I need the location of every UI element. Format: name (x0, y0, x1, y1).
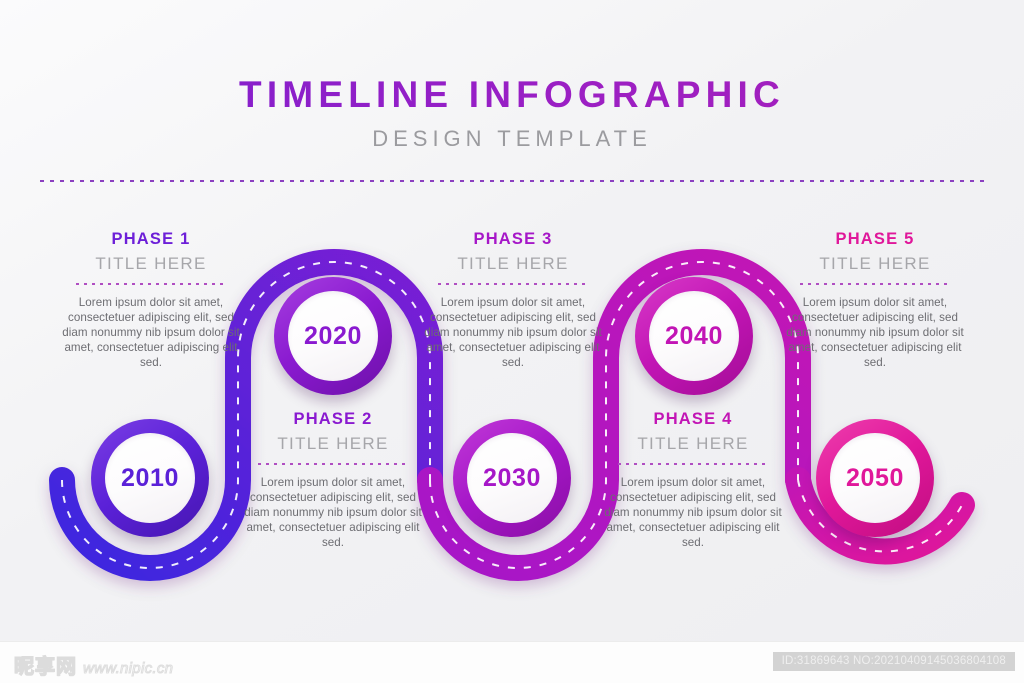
phase-divider-5 (800, 283, 950, 285)
page-subtitle: DESIGN TEMPLATE (0, 126, 1024, 152)
watermark-logo-text: 昵享网 (14, 650, 77, 679)
phase-title-3: PHASE 3 (424, 230, 602, 249)
phase-body-1: Lorem ipsum dolor sit amet, consectetuer… (62, 295, 240, 371)
phase-block-5[interactable]: PHASE 5 TITLE HERE Lorem ipsum dolor sit… (786, 230, 964, 371)
phase-body-4: Lorem ipsum dolor sit amet, consectetuer… (604, 475, 782, 551)
watermark-url-text: www.nipic.cn (83, 660, 173, 677)
year-disc-2030: 2030 (467, 433, 557, 523)
year-marker-2050[interactable]: 2050 (816, 419, 934, 537)
year-disc-2010: 2010 (105, 433, 195, 523)
phase-body-3: Lorem ipsum dolor sit amet, consectetuer… (424, 295, 602, 371)
phase-block-4[interactable]: PHASE 4 TITLE HERE Lorem ipsum dolor sit… (604, 410, 782, 551)
phase-divider-2 (258, 463, 408, 465)
phase-title-5: PHASE 5 (786, 230, 964, 249)
phase-block-1[interactable]: PHASE 1 TITLE HERE Lorem ipsum dolor sit… (62, 230, 240, 371)
footer-bar: 昵享网 www.nipic.cn ID:31869643 NO:20210409… (0, 641, 1024, 683)
year-disc-2050: 2050 (830, 433, 920, 523)
year-disc-2040: 2040 (649, 291, 739, 381)
phase-subtitle-3: TITLE HERE (424, 254, 602, 274)
year-label-2020: 2020 (304, 322, 362, 351)
phase-divider-4 (618, 463, 768, 465)
watermark: 昵享网 www.nipic.cn (14, 650, 173, 679)
year-marker-2020[interactable]: 2020 (274, 277, 392, 395)
year-marker-2030[interactable]: 2030 (453, 419, 571, 537)
year-label-2010: 2010 (121, 464, 179, 493)
phase-title-4: PHASE 4 (604, 410, 782, 429)
phase-subtitle-1: TITLE HERE (62, 254, 240, 274)
phase-subtitle-4: TITLE HERE (604, 434, 782, 454)
phase-subtitle-2: TITLE HERE (244, 434, 422, 454)
phase-body-2: Lorem ipsum dolor sit amet, consectetuer… (244, 475, 422, 551)
phase-body-5: Lorem ipsum dolor sit amet, consectetuer… (786, 295, 964, 371)
phase-block-2[interactable]: PHASE 2 TITLE HERE Lorem ipsum dolor sit… (244, 410, 422, 551)
phase-divider-1 (76, 283, 226, 285)
year-label-2040: 2040 (665, 322, 723, 351)
year-disc-2020: 2020 (288, 291, 378, 381)
year-label-2030: 2030 (483, 464, 541, 493)
year-marker-2040[interactable]: 2040 (635, 277, 753, 395)
year-label-2050: 2050 (846, 464, 904, 493)
id-badge: ID:31869643 NO:20210409145036804108 (773, 652, 1015, 671)
year-marker-2010[interactable]: 2010 (91, 419, 209, 537)
infographic-canvas: TIMELINE INFOGRAPHIC DESIGN TEMPLATE (0, 0, 1024, 683)
phase-title-2: PHASE 2 (244, 410, 422, 429)
header: TIMELINE INFOGRAPHIC DESIGN TEMPLATE (0, 76, 1024, 152)
phase-subtitle-5: TITLE HERE (786, 254, 964, 274)
phase-title-1: PHASE 1 (62, 230, 240, 249)
header-divider (40, 180, 984, 182)
phase-divider-3 (438, 283, 588, 285)
page-title: TIMELINE INFOGRAPHIC (0, 76, 1024, 113)
phase-block-3[interactable]: PHASE 3 TITLE HERE Lorem ipsum dolor sit… (424, 230, 602, 371)
